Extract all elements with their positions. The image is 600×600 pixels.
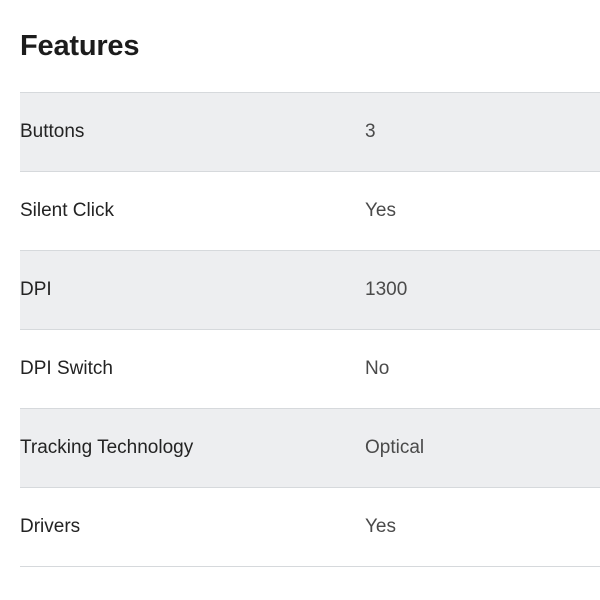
spec-value: Optical	[365, 409, 600, 488]
features-spec-table: Buttons3Silent ClickYesDPI1300DPI Switch…	[20, 92, 600, 567]
spec-label: Tracking Technology	[20, 409, 365, 488]
table-row: DriversYes	[20, 488, 600, 567]
spec-value: No	[365, 330, 600, 409]
table-row: DPI1300	[20, 251, 600, 330]
spec-table-body: Buttons3Silent ClickYesDPI1300DPI Switch…	[20, 93, 600, 567]
spec-value: Yes	[365, 172, 600, 251]
spec-label: Buttons	[20, 93, 365, 172]
spec-label: Silent Click	[20, 172, 365, 251]
spec-value: Yes	[365, 488, 600, 567]
table-row: DPI SwitchNo	[20, 330, 600, 409]
page-title: Features	[20, 26, 139, 66]
table-row: Buttons3	[20, 93, 600, 172]
features-spec-page: Features Buttons3Silent ClickYesDPI1300D…	[0, 0, 600, 600]
spec-label: DPI Switch	[20, 330, 365, 409]
table-row: Silent ClickYes	[20, 172, 600, 251]
spec-value: 1300	[365, 251, 600, 330]
spec-value: 3	[365, 93, 600, 172]
spec-table-container: Buttons3Silent ClickYesDPI1300DPI Switch…	[20, 92, 600, 567]
table-row: Tracking TechnologyOptical	[20, 409, 600, 488]
spec-label: DPI	[20, 251, 365, 330]
spec-label: Drivers	[20, 488, 365, 567]
